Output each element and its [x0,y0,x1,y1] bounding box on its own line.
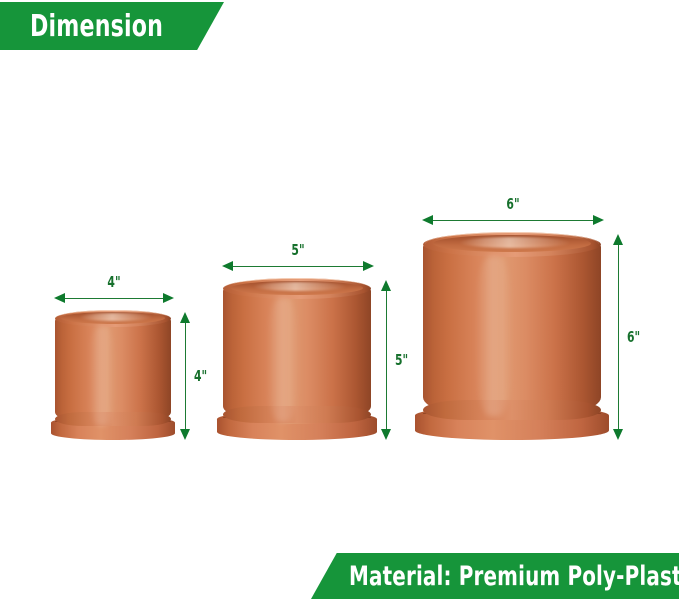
arrow-left-icon [222,261,233,271]
dimension-line [386,286,387,434]
pot-body-sheen-large [475,256,513,416]
arrow-right-icon [593,215,604,225]
dimension-line [228,266,368,267]
pot-body-base-large [423,400,601,420]
arrow-up-icon [381,280,391,291]
dimension-height-small: 4" [179,312,191,440]
pot-body-base-small [55,412,171,426]
dimension-width-label-large: 6" [506,195,519,213]
arrow-up-icon [613,234,623,245]
dimension-line [60,298,168,299]
dimension-height-medium: 5" [380,280,392,440]
dimension-line [428,220,598,221]
dimension-height-label-large: 6" [627,328,640,346]
dimension-line [185,318,186,434]
dimension-height-large: 6" [612,234,624,440]
dimension-width-label-small: 4" [107,273,120,291]
arrow-left-icon [422,215,433,225]
pot-body-base-medium [223,406,371,423]
pot-body-sheen-medium [267,298,299,422]
arrow-left-icon [54,293,65,303]
pot-rim-highlight-small [56,310,170,326]
arrow-right-icon [363,261,374,271]
dimension-width-label-medium: 5" [291,241,304,259]
pot-rim-highlight-medium [224,278,370,298]
dimension-width-large: 6" [422,214,604,226]
planter-pot-medium [223,278,371,440]
product-dimension-diagram: 4" 4" 5" 5" [0,0,679,601]
pot-rim-highlight-large [425,232,599,256]
material-banner: Material: Premium Poly-Plastic [311,553,679,599]
planter-pot-large [423,232,601,440]
arrow-right-icon [163,293,174,303]
arrow-up-icon [180,312,190,323]
dimension-width-small: 4" [54,292,174,304]
arrow-down-icon [613,429,623,440]
dimension-height-label-small: 4" [194,367,207,385]
pot-body-sheen-small [89,326,115,426]
dimension-height-label-medium: 5" [395,351,408,369]
arrow-down-icon [381,429,391,440]
arrow-down-icon [180,429,190,440]
planter-pot-small [55,310,171,440]
dimension-line [618,240,619,434]
dimension-width-medium: 5" [222,260,374,272]
material-banner-label: Material: Premium Poly-Plastic [349,561,679,592]
